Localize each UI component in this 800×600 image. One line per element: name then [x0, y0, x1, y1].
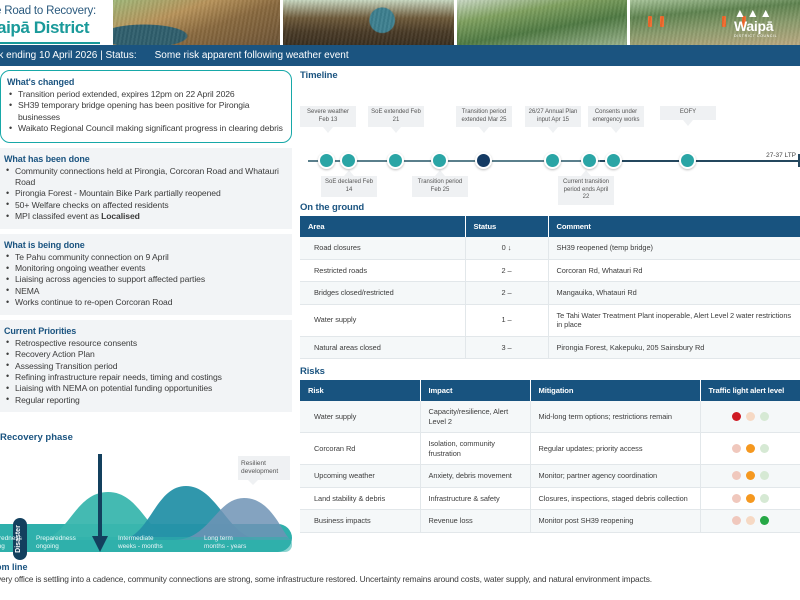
- timeline-node-7[interactable]: [605, 152, 622, 169]
- green-light-icon: [760, 494, 769, 503]
- list-item: Retrospective resource consents: [4, 338, 284, 349]
- cell-impact: Revenue loss: [420, 510, 530, 533]
- table-row: Water supply Capacity/resilience, Alert …: [300, 401, 800, 433]
- traffic-light-indicator: [709, 471, 793, 480]
- amber-light-icon: [746, 471, 755, 480]
- table-row: Water supply 1 – Te Tahi Water Treatment…: [300, 304, 800, 336]
- timeline-label-8: EOFY: [660, 106, 716, 120]
- timeline-node-1[interactable]: [340, 152, 357, 169]
- red-light-icon: [732, 494, 741, 503]
- traffic-light-indicator: [709, 444, 793, 453]
- timeline-label-1: SoE declared Feb 14: [321, 176, 377, 197]
- timeline-node-0[interactable]: [318, 152, 335, 169]
- timeline-label-2: SoE extended Feb 21: [368, 106, 424, 127]
- svg-text:Preparedness: Preparedness: [0, 535, 22, 542]
- timeline-node-5[interactable]: [544, 152, 561, 169]
- week-ending-label: Week ending 10 April 2026 | Status:: [0, 50, 137, 61]
- timeline-label-3: Transition period Feb 25: [412, 176, 468, 197]
- list-item-text: MPI classifed event as: [15, 211, 101, 221]
- timeline-label-0: Severe weather Feb 13: [300, 106, 356, 127]
- traffic-light-indicator: [709, 494, 793, 503]
- table-row: Bridges closed/restricted 2 – Mangauika,…: [300, 282, 800, 305]
- list-item: Assessing Transition period: [4, 361, 284, 372]
- header-photo-strip: [110, 0, 800, 45]
- timeline-axis-future: [600, 160, 800, 162]
- risks-heading: Risks: [300, 366, 800, 377]
- green-light-icon: [760, 516, 769, 525]
- cell-risk: Water supply: [300, 401, 420, 433]
- table-header-row: Risk Impact Mitigation Traffic light ale…: [300, 380, 800, 401]
- column-header-traffic-light: Traffic light alert level: [700, 380, 800, 401]
- list-item: Pirongia Forest - Mountain Bike Park par…: [4, 188, 284, 199]
- table-row: Business impacts Revenue loss Monitor po…: [300, 510, 800, 533]
- status-bar: Week ending 10 April 2026 | Status: Some…: [0, 45, 800, 66]
- red-light-icon: [732, 412, 741, 421]
- damaged-farmland-photo: [457, 0, 627, 45]
- page-title-line2: Waipā District: [0, 18, 113, 38]
- cell-area: Bridges closed/restricted: [300, 282, 465, 305]
- svg-text:months - years: months - years: [204, 543, 246, 550]
- cell-comment: Pirongia Forest, Kakepuku, 205 Sainsbury…: [548, 336, 800, 359]
- cell-impact: Capacity/resilience, Alert Level 2: [420, 401, 530, 433]
- list-item: Refining infrastructure repair needs, ti…: [4, 372, 284, 383]
- column-header-mitigation: Mitigation: [530, 380, 700, 401]
- table-row: Natural areas closed 3 – Pirongia Forest…: [300, 336, 800, 359]
- timeline: Severe weather Feb 13 SoE declared Feb 1…: [300, 84, 800, 202]
- column-header-risk: Risk: [300, 380, 420, 401]
- table-row: Restricted roads 2 – Corcoran Rd, Whatau…: [300, 259, 800, 282]
- logo-name: Waipā: [734, 19, 796, 33]
- cell-comment: Te Tahi Water Treatment Plant inoperable…: [548, 304, 800, 336]
- timeline-node-4[interactable]: [475, 152, 492, 169]
- what-has-been-done-heading: What has been done: [4, 154, 284, 164]
- cell-risk: Land stability & debris: [300, 487, 420, 510]
- cell-mitigation: Mid-long term options; restrictions rema…: [530, 401, 700, 433]
- cell-comment: SH39 reopened (temp bridge): [548, 237, 800, 259]
- timeline-heading: Timeline: [300, 70, 800, 81]
- list-item: Liaising with NEMA on potential funding …: [4, 383, 284, 394]
- cell-status: 0 ↓: [465, 237, 548, 259]
- on-the-ground-heading: On the ground: [300, 202, 800, 213]
- svg-text:ongoing: ongoing: [0, 543, 5, 550]
- left-column: What's changed Transition period extende…: [0, 70, 292, 417]
- svg-text:Intermediate: Intermediate: [118, 535, 154, 542]
- red-light-icon: [732, 444, 741, 453]
- cell-risk: Business impacts: [300, 510, 420, 533]
- list-item: SH39 temporary bridge opening has been p…: [7, 100, 283, 123]
- bottom-line-heading: Bottom line: [0, 562, 800, 572]
- cell-status: 1 –: [465, 304, 548, 336]
- cell-area: Water supply: [300, 304, 465, 336]
- resilient-development-callout: Resilient development: [238, 456, 290, 480]
- svg-text:Long term: Long term: [204, 535, 233, 542]
- cell-mitigation: Closures, inspections, staged debris col…: [530, 487, 700, 510]
- risks-table: Risk Impact Mitigation Traffic light ale…: [300, 380, 800, 533]
- timeline-node-8[interactable]: [679, 152, 696, 169]
- list-item-emphasis: Localised: [101, 211, 140, 221]
- list-item: MPI classifed event as Localised: [4, 211, 284, 222]
- title-underline: [0, 42, 100, 44]
- table-row: Upcoming weather Anxiety, debris movemen…: [300, 465, 800, 488]
- list-item: NEMA: [4, 286, 284, 297]
- whats-changed-heading: What's changed: [7, 77, 283, 87]
- column-header-comment: Comment: [548, 216, 800, 237]
- right-column: Timeline Severe weather Feb 13 SoE decla…: [300, 70, 800, 533]
- list-item: Works continue to re-open Corcoran Road: [4, 297, 284, 308]
- cell-impact: Isolation, community frustration: [420, 433, 530, 465]
- cell-traffic-light: [700, 510, 800, 533]
- list-item: Community connections held at Pirongia, …: [4, 166, 284, 189]
- current-priorities-heading: Current Priorities: [4, 326, 284, 336]
- list-item: Monitoring ongoing weather events: [4, 263, 284, 274]
- cell-risk: Upcoming weather: [300, 465, 420, 488]
- svg-text:weeks - months: weeks - months: [117, 543, 163, 550]
- svg-text:Preparedness: Preparedness: [36, 535, 76, 542]
- waipa-district-council-logo: ▲▲▲ Waipā DISTRICT COUNCIL: [734, 8, 796, 42]
- timeline-label-7: Consents under emergency works: [588, 106, 644, 127]
- cell-traffic-light: [700, 465, 800, 488]
- bottom-line-text: Recovery office is settling into a caden…: [0, 574, 800, 584]
- cell-risk: Corcoran Rd: [300, 433, 420, 465]
- timeline-label-4: Transition period extended Mar 25: [456, 106, 512, 127]
- column-header-impact: Impact: [420, 380, 530, 401]
- current-priorities-card: Current Priorities Retrospective resourc…: [0, 320, 292, 412]
- logo-subtitle: DISTRICT COUNCIL: [734, 33, 796, 39]
- cell-area: Road closures: [300, 237, 465, 259]
- recovery-phase-diagram: Recovery phase Disaster Preparedness ong…: [0, 432, 292, 560]
- cell-status: 2 –: [465, 282, 548, 305]
- what-has-been-done-list: Community connections held at Pirongia, …: [4, 166, 284, 223]
- what-is-being-done-heading: What is being done: [4, 240, 284, 250]
- recovery-phase-heading: Recovery phase: [0, 432, 292, 443]
- green-light-icon: [760, 471, 769, 480]
- what-has-been-done-card: What has been done Community connections…: [0, 148, 292, 229]
- cell-comment: Mangauika, Whatauri Rd: [548, 282, 800, 305]
- what-is-being-done-list: Te Pahu community connection on 9 April …: [4, 252, 284, 309]
- list-item: Regular reporting: [4, 395, 284, 406]
- page-title: The Road to Recovery: Waipā District: [0, 0, 113, 45]
- cell-traffic-light: [700, 401, 800, 433]
- cell-mitigation: Regular updates; priority access: [530, 433, 700, 465]
- current-priorities-list: Retrospective resource consents Recovery…: [4, 338, 284, 406]
- red-light-icon: [732, 516, 741, 525]
- cell-status: 2 –: [465, 259, 548, 282]
- list-item: 50+ Welfare checks on affected residents: [4, 200, 284, 211]
- page-header: The Road to Recovery: Waipā District ▲▲▲…: [0, 0, 800, 45]
- list-item: Te Pahu community connection on 9 April: [4, 252, 284, 263]
- table-header-row: Area Status Comment: [300, 216, 800, 237]
- amber-light-icon: [746, 516, 755, 525]
- column-header-status: Status: [465, 216, 548, 237]
- cell-mitigation: Monitor post SH39 reopening: [530, 510, 700, 533]
- amber-light-icon: [746, 412, 755, 421]
- traffic-light-indicator: [709, 516, 793, 525]
- svg-text:ongoing: ongoing: [36, 543, 59, 550]
- cell-area: Natural areas closed: [300, 336, 465, 359]
- what-is-being-done-card: What is being done Te Pahu community con…: [0, 234, 292, 315]
- whats-changed-card: What's changed Transition period extende…: [0, 70, 292, 143]
- whats-changed-list: Transition period extended, expires 12pm…: [7, 89, 283, 135]
- cell-traffic-light: [700, 433, 800, 465]
- green-light-icon: [760, 444, 769, 453]
- green-light-icon: [760, 412, 769, 421]
- list-item: Liaising across agencies to support affe…: [4, 274, 284, 285]
- cell-comment: Corcoran Rd, Whatauri Rd: [548, 259, 800, 282]
- amber-light-icon: [746, 494, 755, 503]
- timeline-label-6: Current transition period ends April 22: [558, 176, 614, 205]
- timeline-node-3[interactable]: [431, 152, 448, 169]
- table-row: Land stability & debris Infrastructure &…: [300, 487, 800, 510]
- column-header-area: Area: [300, 216, 465, 237]
- table-row: Corcoran Rd Isolation, community frustra…: [300, 433, 800, 465]
- status-badge: Some risk apparent following weather eve…: [155, 50, 349, 61]
- cell-status: 3 –: [465, 336, 548, 359]
- on-the-ground-table: Area Status Comment Road closures 0 ↓ SH…: [300, 216, 800, 359]
- traffic-light-indicator: [709, 412, 793, 421]
- excavator-clearing-slip-photo: [283, 0, 453, 45]
- timeline-node-6[interactable]: [581, 152, 598, 169]
- cell-impact: Anxiety, debris movement: [420, 465, 530, 488]
- list-item: Recovery Action Plan: [4, 349, 284, 360]
- timeline-label-5: 26/27 Annual Plan input Apr 15: [525, 106, 581, 127]
- cell-impact: Infrastructure & safety: [420, 487, 530, 510]
- list-item: Waikato Regional Council making signific…: [7, 123, 283, 134]
- bottom-line-section: Bottom line Recovery office is settling …: [0, 562, 800, 584]
- timeline-ltp-label: 27-37 LTP: [766, 152, 796, 159]
- cell-area: Restricted roads: [300, 259, 465, 282]
- cell-traffic-light: [700, 487, 800, 510]
- list-item: Transition period extended, expires 12pm…: [7, 89, 283, 100]
- page-title-line1: The Road to Recovery:: [0, 5, 113, 17]
- amber-light-icon: [746, 444, 755, 453]
- table-row: Road closures 0 ↓ SH39 reopened (temp br…: [300, 237, 800, 259]
- flood-damaged-riverbank-photo: [110, 0, 280, 45]
- red-light-icon: [732, 471, 741, 480]
- cell-mitigation: Monitor; partner agency coordination: [530, 465, 700, 488]
- timeline-node-2[interactable]: [387, 152, 404, 169]
